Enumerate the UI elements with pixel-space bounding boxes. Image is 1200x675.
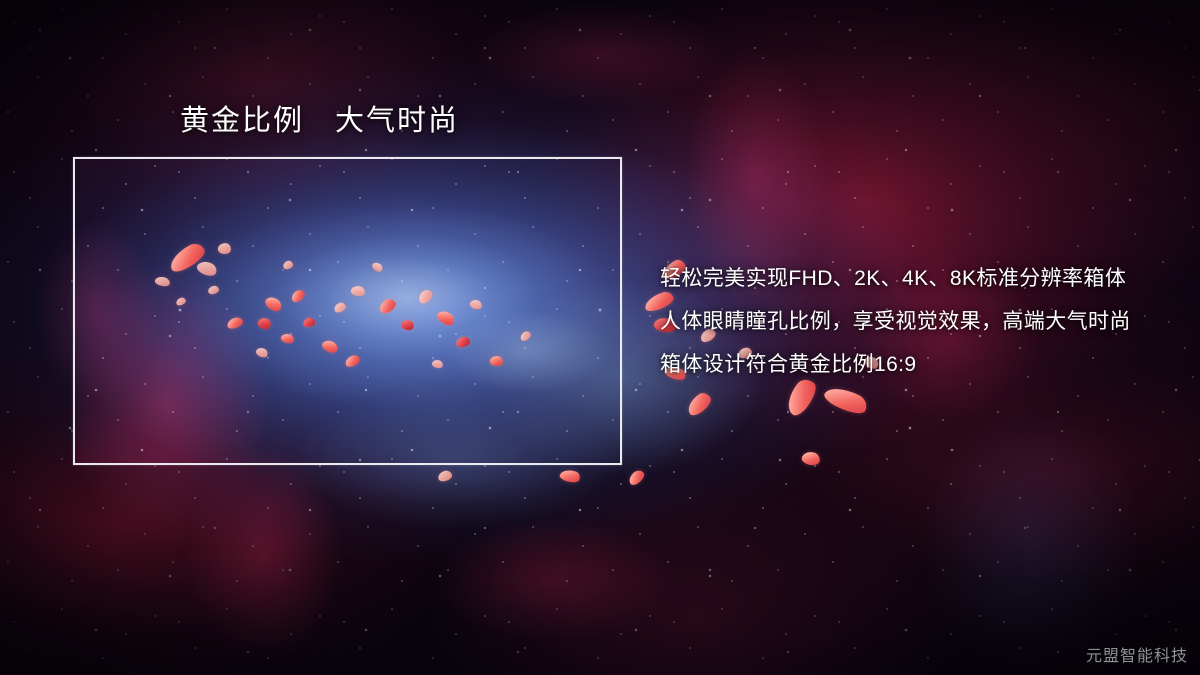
petal (255, 346, 270, 360)
petal (333, 301, 347, 314)
petal (431, 358, 444, 369)
petal (256, 316, 273, 332)
framed-nebula-glow (75, 159, 620, 463)
petal (801, 450, 822, 467)
petal (166, 240, 208, 275)
petal (217, 242, 231, 255)
petal (350, 285, 366, 298)
petal (684, 390, 715, 418)
framed-starfield-large (75, 159, 620, 463)
petal (437, 469, 453, 482)
petal (455, 336, 471, 349)
presentation-slide: 黄金比例 大气时尚 轻松完美实现FHD、2K、4K、8K标准分辨率箱体 人体眼睛… (0, 0, 1200, 675)
petal (263, 294, 284, 314)
page-title: 黄金比例 大气时尚 (180, 103, 459, 139)
petal (400, 318, 415, 331)
petal (377, 297, 398, 316)
petal (302, 317, 315, 328)
framed-starfield-small (75, 159, 620, 463)
framed-starfield-medium (75, 159, 620, 463)
petal (489, 355, 504, 367)
petal (226, 316, 244, 330)
petal (280, 332, 295, 345)
framed-nebula-base (75, 159, 620, 463)
photo-frame-content (75, 159, 620, 463)
body-line: 箱体设计符合黄金比例16:9 (660, 343, 1180, 386)
petal (435, 308, 457, 328)
petal (320, 338, 339, 356)
petal (207, 285, 219, 295)
watermark: 元盟智能科技 (1086, 642, 1188, 666)
petal (519, 330, 533, 343)
petal (344, 353, 362, 368)
petal (154, 275, 171, 287)
petal (822, 381, 870, 418)
body-line: 轻松完美实现FHD、2K、4K、8K标准分辨率箱体 (660, 257, 1180, 300)
petal (282, 260, 294, 270)
petal (559, 467, 582, 485)
petal (371, 260, 385, 273)
framed-nebula-image (75, 159, 620, 463)
petal (626, 468, 646, 487)
petal (416, 287, 435, 305)
petal (175, 297, 187, 307)
petal (469, 298, 483, 311)
body-line: 人体眼睛瞳孔比例，享受视觉效果，高端大气时尚 (660, 300, 1180, 343)
body-copy-block: 轻松完美实现FHD、2K、4K、8K标准分辨率箱体 人体眼睛瞳孔比例，享受视觉效… (660, 257, 1180, 386)
petal (195, 259, 218, 279)
petal (289, 288, 306, 304)
framed-nebula-filaments (75, 159, 620, 463)
photo-frame-16x9 (73, 157, 622, 465)
